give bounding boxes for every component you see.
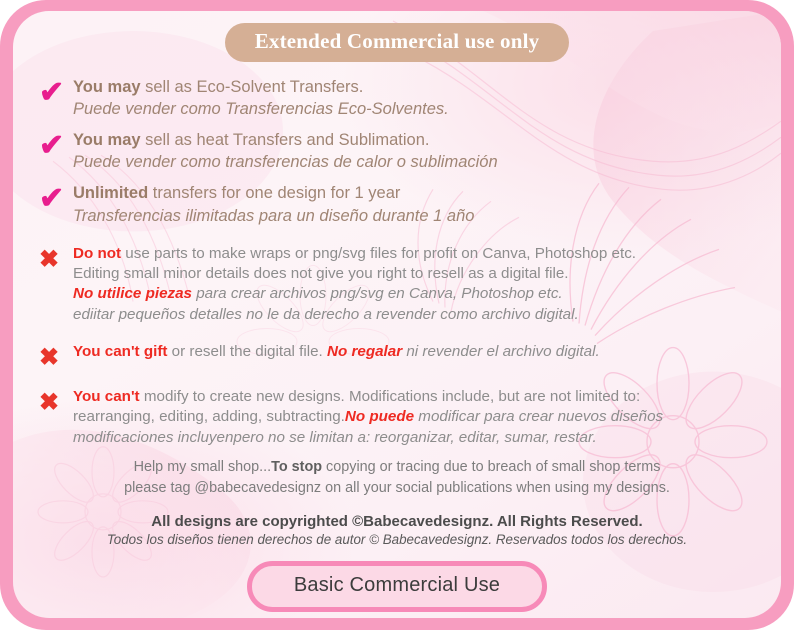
allowed-es-line: Puede vender como Transferencias Eco-Sol… (73, 98, 761, 120)
list-item-body: You can't gift or resell the digital fil… (73, 342, 761, 362)
copyright-es: Todos los diseños tienen derechos de aut… (47, 532, 747, 547)
prohibited-es-rest: ni revender el archivo digital. (402, 343, 600, 360)
terms-list: ✔ You may sell as Eco-Solvent Transfers.… (13, 62, 781, 448)
header-row: Extended Commercial use only (13, 11, 781, 62)
card-content: Extended Commercial use only ✔ You may s… (13, 11, 781, 618)
prohibited-em: You can't (73, 388, 140, 405)
prohibited-es-rest: para crear archivos png/svg en Canva, Ph… (192, 285, 563, 302)
prohibited-em: You can't gift (73, 343, 167, 360)
copyright-en: All designs are copyrighted ©Babecavedes… (47, 513, 747, 530)
allowed-em: You may (73, 131, 141, 149)
prohibited-modify-line1: You can't modify to create new designs. … (73, 387, 761, 407)
prohibited-es-em: No utilice piezas (73, 285, 192, 302)
list-item: ✔ You may sell as Eco-Solvent Transfers.… (35, 76, 761, 120)
list-item-body: Do not use parts to make wraps or png/sv… (73, 244, 761, 325)
allowed-es-line: Transferencias ilimitadas para un diseño… (73, 205, 761, 227)
check-mark-icon: ✔ (35, 76, 73, 108)
allowed-en-line: You may sell as heat Transfers and Subli… (73, 129, 761, 151)
prohibited-gift-line: You can't gift or resell the digital fil… (73, 342, 761, 362)
cross-mark-icon: ✖ (35, 342, 73, 370)
allowed-rest: transfers for one design for 1 year (148, 184, 400, 202)
basic-commercial-use-badge: Basic Commercial Use (247, 561, 547, 612)
footer-badge-row: Basic Commercial Use (13, 561, 781, 612)
list-item-body: You can't modify to create new designs. … (73, 387, 761, 448)
list-item: ✔ Unlimited transfers for one design for… (35, 182, 761, 226)
allowed-es-line: Puede vender como transferencias de calo… (73, 151, 761, 173)
extended-commercial-use-badge: Extended Commercial use only (225, 23, 570, 62)
help-shop-line1: Help my small shop...To stop copying or … (47, 457, 747, 478)
prohibited-em: Do not (73, 245, 121, 262)
prohibited-modify-line2: rearranging, editing, adding, subtractin… (73, 407, 761, 427)
prohibited-modify-gray: rearranging, editing, adding, subtractin… (73, 408, 345, 425)
prohibited-es-line1: No utilice piezas para crear archivos pn… (73, 284, 761, 304)
help-post: copying or tracing due to breach of smal… (322, 459, 660, 475)
help-pre: Help my small shop... (134, 459, 272, 475)
list-item-body: You may sell as heat Transfers and Subli… (73, 129, 761, 173)
prohibited-rest: or resell the digital file. (167, 343, 327, 360)
prohibited-es-em: No puede (345, 408, 414, 425)
check-mark-icon: ✔ (35, 182, 73, 214)
prohibited-rest: use parts to make wraps or png/svg files… (121, 245, 636, 262)
prohibited-es-em: No regalar (327, 343, 402, 360)
prohibited-es-rest: modificar para crear nuevos diseños (414, 408, 663, 425)
list-item: ✖ You can't modify to create new designs… (35, 387, 761, 448)
allowed-rest: sell as Eco-Solvent Transfers. (141, 78, 364, 96)
cross-mark-icon: ✖ (35, 244, 73, 272)
prohibited-es-line2: ediitar pequeños detalles no le da derec… (73, 305, 761, 325)
allowed-em: You may (73, 78, 141, 96)
list-item-body: You may sell as Eco-Solvent Transfers. P… (73, 76, 761, 120)
allowed-en-line: Unlimited transfers for one design for 1… (73, 182, 761, 204)
prohibited-rest: modify to create new designs. Modificati… (140, 388, 641, 405)
list-item-body: Unlimited transfers for one design for 1… (73, 182, 761, 226)
cross-mark-icon: ✖ (35, 387, 73, 415)
prohibited-en-line2: Editing small minor details does not giv… (73, 264, 761, 284)
help-bold: To stop (271, 459, 322, 475)
allowed-en-line: You may sell as Eco-Solvent Transfers. (73, 76, 761, 98)
list-item: ✖ Do not use parts to make wraps or png/… (35, 244, 761, 325)
help-shop-line2: please tag @babecavedesignz on all your … (47, 478, 747, 499)
check-mark-icon: ✔ (35, 129, 73, 161)
list-item: ✔ You may sell as heat Transfers and Sub… (35, 129, 761, 173)
allowed-em: Unlimited (73, 184, 148, 202)
footer-notes: Help my small shop...To stop copying or … (13, 457, 781, 547)
prohibited-modify-line3: modificaciones incluyenpero no se limita… (73, 428, 761, 448)
card-inner: Extended Commercial use only ✔ You may s… (13, 11, 781, 618)
list-item: ✖ You can't gift or resell the digital f… (35, 342, 761, 370)
prohibited-en-line1: Do not use parts to make wraps or png/sv… (73, 244, 761, 264)
allowed-rest: sell as heat Transfers and Sublimation. (141, 131, 430, 149)
license-card: Extended Commercial use only ✔ You may s… (0, 0, 794, 630)
